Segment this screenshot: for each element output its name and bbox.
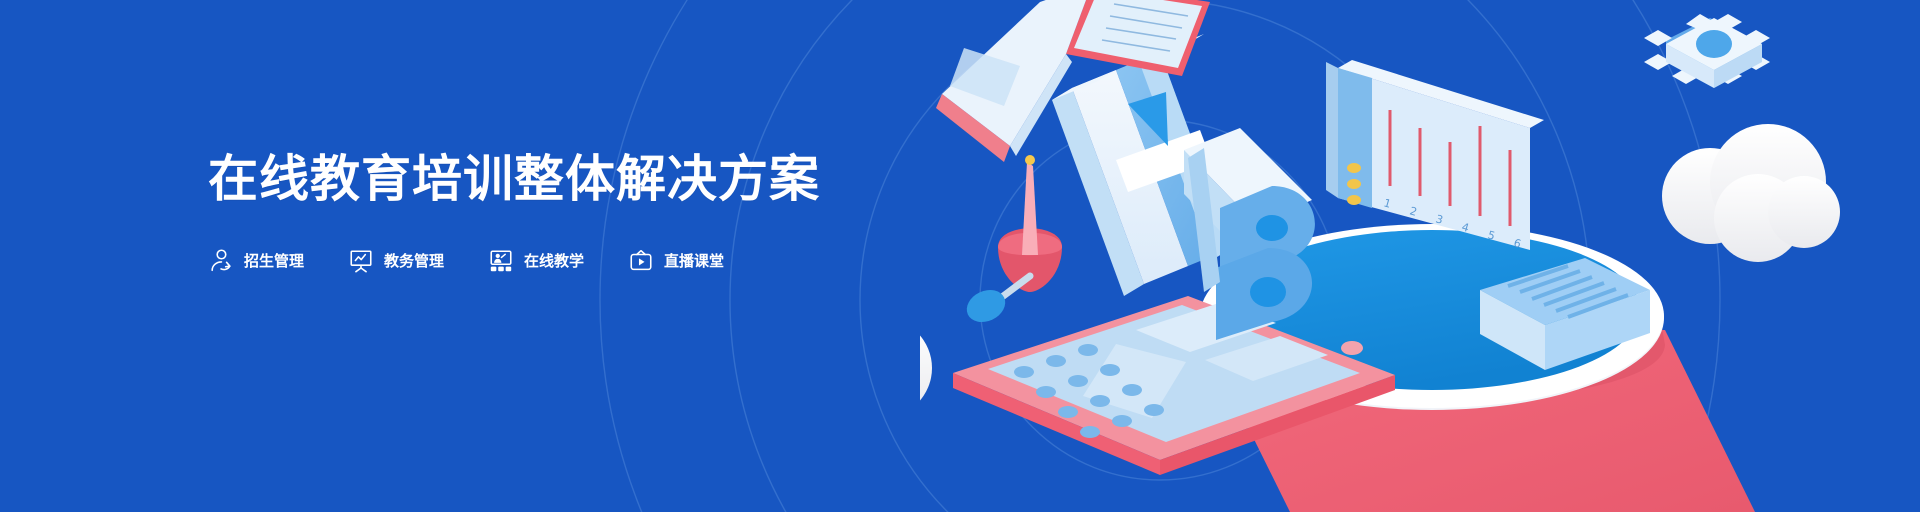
easel-chart-icon — [348, 248, 374, 274]
feature-list: 招生管理 教务管理 — [208, 248, 968, 274]
feature-label-academic-affairs: 教务管理 — [384, 248, 444, 274]
whiteboard-students-icon — [488, 248, 514, 274]
feature-label-live-class: 直播课堂 — [664, 248, 724, 274]
tv-play-icon — [628, 248, 654, 274]
feature-item-online-teaching[interactable]: 在线教学 — [488, 248, 584, 274]
cloud-small — [920, 318, 932, 438]
feature-label-online-teaching: 在线教学 — [524, 248, 584, 274]
chart-panel: 1 2 3 4 5 6 — [1326, 60, 1544, 251]
spinning-top — [962, 155, 1062, 328]
user-chart-icon — [208, 248, 234, 274]
cloud-large — [1662, 124, 1840, 262]
feature-label-enrollment: 招生管理 — [244, 248, 304, 274]
education-banner: 1 2 3 4 5 6 — [0, 0, 1920, 512]
banner-text-block: 在线教育培训整体解决方案 招生管理 — [208, 150, 968, 274]
page-title: 在线教育培训整体解决方案 — [208, 150, 968, 208]
feature-item-live-class[interactable]: 直播课堂 — [628, 248, 724, 274]
feature-item-academic-affairs[interactable]: 教务管理 — [348, 248, 444, 274]
illustration: 1 2 3 4 5 6 — [920, 0, 1920, 512]
feature-item-enrollment[interactable]: 招生管理 — [208, 248, 304, 274]
gear-3d — [1644, 14, 1770, 88]
